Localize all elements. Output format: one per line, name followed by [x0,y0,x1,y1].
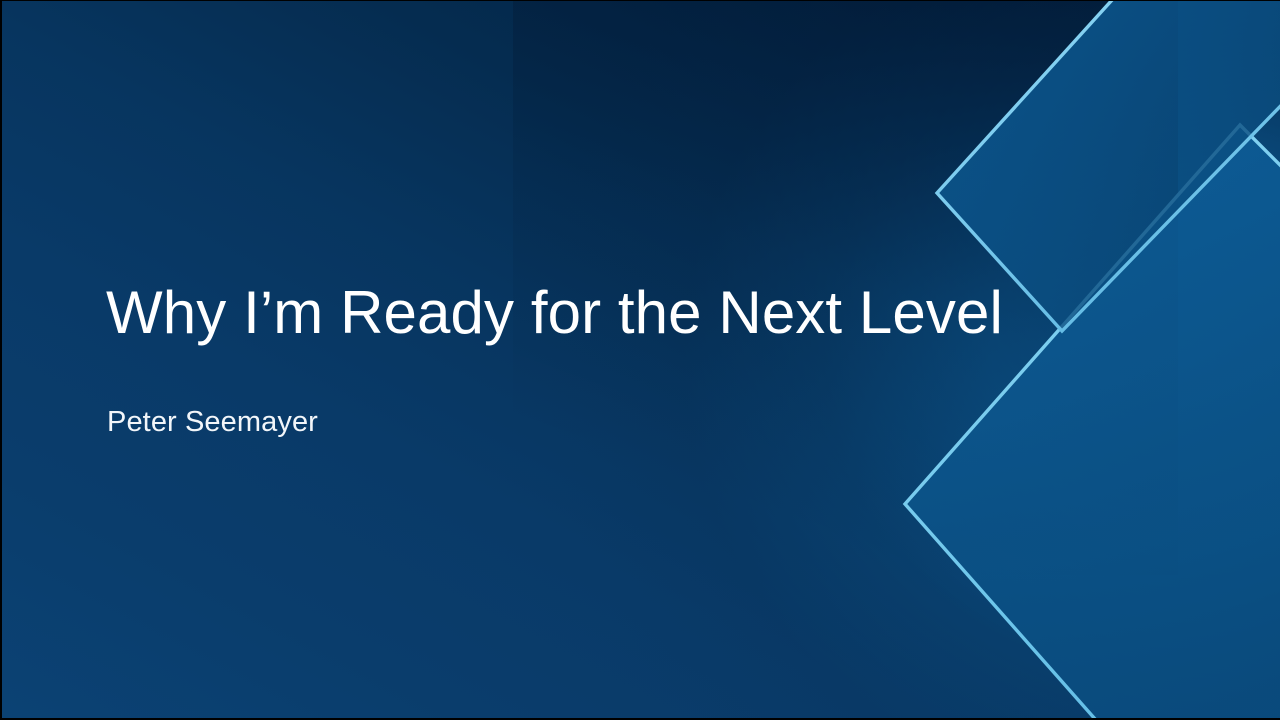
slide-subtitle[interactable]: Peter Seemayer [107,403,807,441]
slide-title[interactable]: Why I’m Ready for the Next Level [106,277,1046,349]
slide-text-block: Why I’m Ready for the Next Level Peter S… [2,1,1280,720]
presentation-slide: Why I’m Ready for the Next Level Peter S… [0,0,1280,720]
